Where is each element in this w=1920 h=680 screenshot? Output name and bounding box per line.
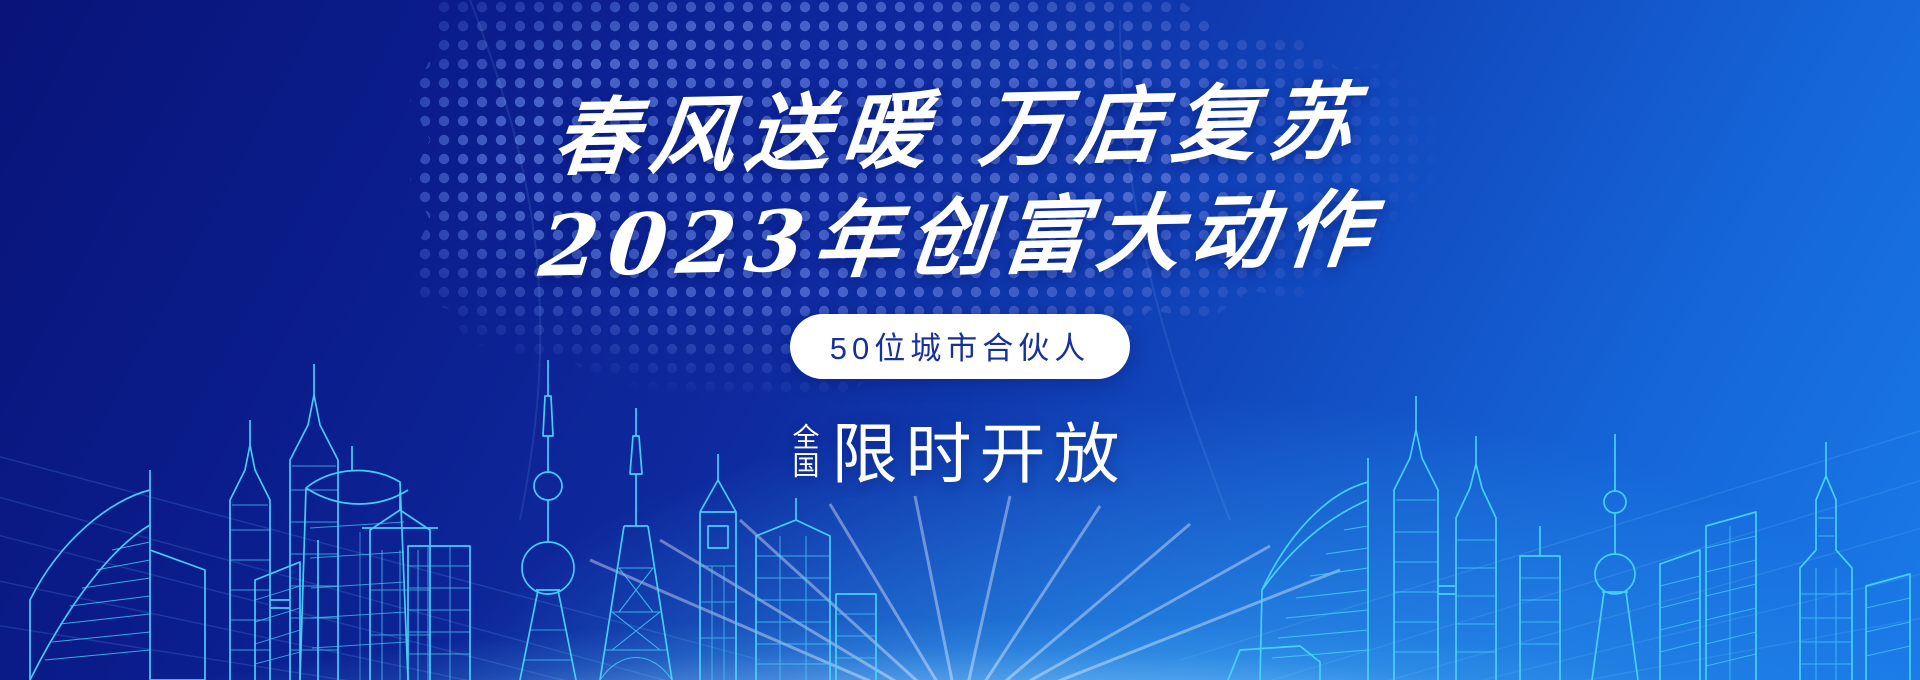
banner-content: 春风送暖 万店复苏 2023年创富大动作 50位城市合伙人 全 国 限时开放 <box>0 0 1920 680</box>
subheadline-text: 限时开放 <box>832 401 1128 497</box>
nationwide-char-top: 全 <box>793 424 820 452</box>
headline-line-1: 春风送暖 万店复苏 <box>550 80 1370 181</box>
partner-count-badge[interactable]: 50位城市合伙人 <box>790 314 1130 379</box>
nationwide-stacked-label: 全 国 <box>793 418 820 480</box>
subheadline-row: 全 国 限时开放 <box>793 401 1128 497</box>
promo-banner: 春风送暖 万店复苏 2023年创富大动作 50位城市合伙人 全 国 限时开放 <box>0 0 1920 680</box>
headline-line-2: 2023年创富大动作 <box>536 187 1384 289</box>
nationwide-char-bottom: 国 <box>793 452 820 480</box>
